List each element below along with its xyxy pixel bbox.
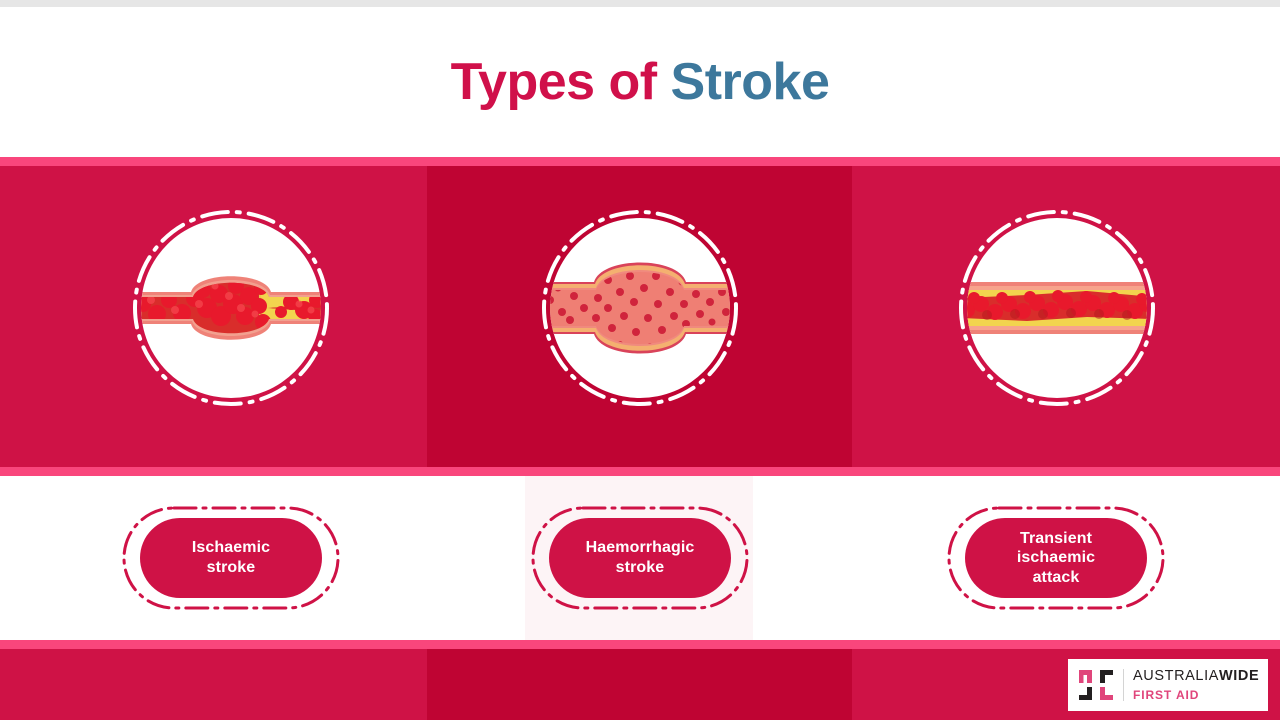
pill-label-tia: Transient ischaemic attack — [1009, 529, 1103, 588]
ischaemic-vessel-graphic — [141, 218, 321, 398]
haemorrhagic-illustration-disc — [550, 218, 730, 398]
pill-body-ischaemic[interactable]: Ischaemic stroke — [140, 518, 322, 598]
pill-label-ischaemic: Ischaemic stroke — [184, 538, 278, 577]
logo-word-australia: AUSTRALIA — [1133, 668, 1219, 684]
label-band: Ischaemic stroke Haemorrhagic stroke Tra… — [0, 476, 1280, 640]
australia-wide-first-aid-cross-mark — [1077, 668, 1115, 702]
page-title-part-types-of: Types of — [451, 53, 671, 111]
footer-column-middle — [427, 640, 852, 720]
footer-top-pink-stripe — [0, 640, 1280, 649]
page-title-part-stroke: Stroke — [671, 53, 830, 111]
pill-label-haemorrhagic: Haemorrhagic stroke — [578, 538, 703, 577]
top-edge-strip — [0, 0, 1280, 7]
pill-body-tia[interactable]: Transient ischaemic attack — [965, 518, 1147, 598]
ischaemic-stroke-vessel-illustration — [129, 206, 333, 410]
title-area: Types of Stroke — [0, 7, 1280, 157]
logo-wordmark: AUSTRALIAWIDE FIRST AID — [1133, 669, 1259, 701]
logo-word-wide: WIDE — [1219, 668, 1259, 684]
band-top-pink-stripe — [0, 157, 1280, 166]
cross-mark-icon — [1077, 668, 1115, 702]
illustration-band — [0, 157, 1280, 476]
haemorrhagic-stroke-vessel-illustration — [538, 206, 742, 410]
band-bottom-pink-stripe — [0, 467, 1280, 476]
logo-divider — [1123, 669, 1124, 701]
page-title: Types of Stroke — [451, 56, 830, 108]
footer-column-left — [0, 640, 427, 720]
pill-body-haemorrhagic[interactable]: Haemorrhagic stroke — [549, 518, 731, 598]
tia-vessel-graphic — [967, 218, 1147, 398]
ischaemic-illustration-disc — [141, 218, 321, 398]
tia-illustration-disc — [967, 218, 1147, 398]
logo-line-australiawide: AUSTRALIAWIDE — [1133, 669, 1259, 684]
label-pill-haemorrhagic[interactable]: Haemorrhagic stroke — [524, 503, 756, 613]
australia-wide-first-aid-logo[interactable]: AUSTRALIAWIDE FIRST AID — [1068, 659, 1268, 711]
label-pill-tia[interactable]: Transient ischaemic attack — [940, 503, 1172, 613]
transient-ischaemic-attack-vessel-illustration — [955, 206, 1159, 410]
haemorrhagic-vessel-graphic — [550, 218, 730, 398]
label-pill-ischaemic[interactable]: Ischaemic stroke — [115, 503, 347, 613]
slide-root: Types of Stroke — [0, 0, 1280, 720]
logo-line-first-aid: FIRST AID — [1133, 689, 1259, 701]
